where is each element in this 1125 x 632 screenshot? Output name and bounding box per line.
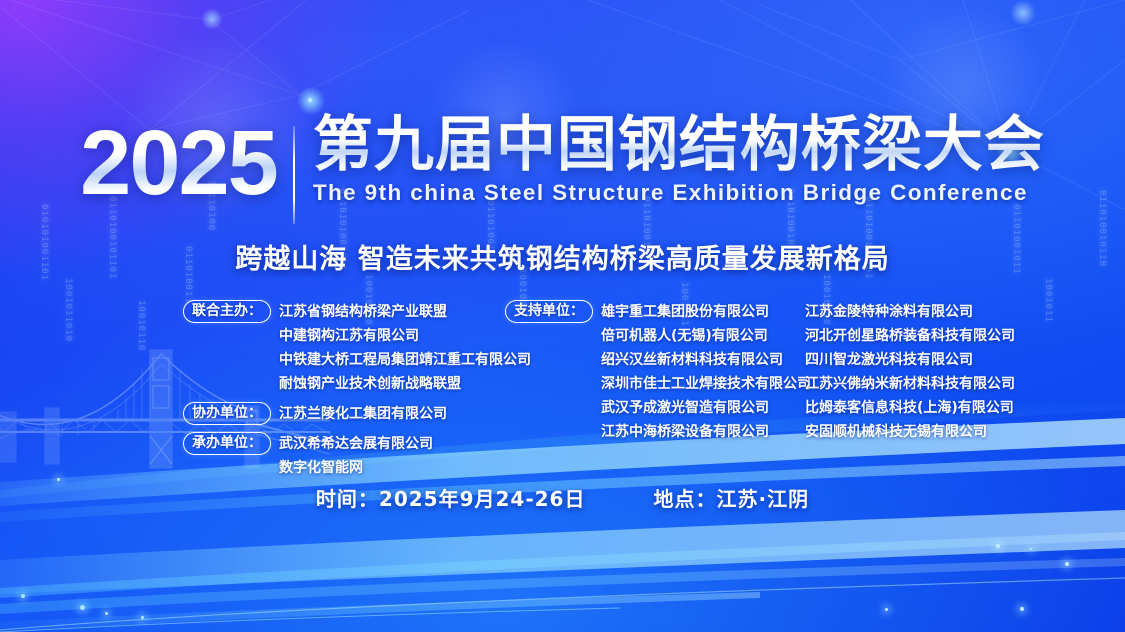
organizer-column-middle: 支持单位： 雄宇重工集团股份有限公司 倍可机器人(无锡)有限公司 绍兴汉丝新材料… — [505, 300, 805, 447]
banner-content: 2025 第九届中国钢结构桥梁大会 The 9th china Steel St… — [0, 0, 1125, 632]
list-item: 江苏省钢结构桥梁产业联盟 — [279, 300, 531, 324]
list-item: 武汉希希达会展有限公司 — [279, 432, 433, 456]
list-item: 中建钢构江苏有限公司 — [279, 324, 531, 348]
conference-slogan: 跨越山海 智造未来共筑钢结构桥梁高质量发展新格局 — [0, 237, 1125, 276]
list-item: 深圳市佳士工业焊接技术有限公司 — [601, 372, 811, 396]
list-item: 耐蚀钢产业技术创新战略联盟 — [279, 372, 531, 396]
list-item: 江苏金陵特种涂料有限公司 — [805, 300, 1085, 324]
co-organizer-label: 协办单位： — [183, 402, 271, 425]
year-2025: 2025 — [80, 120, 293, 206]
list-item: 绍兴汉丝新材料科技有限公司 — [601, 348, 811, 372]
co-organizer-names: 江苏兰陵化工集团有限公司 — [279, 402, 447, 426]
supporters-label: 支持单位： — [505, 300, 593, 323]
list-item: 四川智龙激光科技有限公司 — [805, 348, 1085, 372]
conference-title-en: The 9th china Steel Structure Exhibition… — [313, 180, 1045, 206]
joint-host-names: 江苏省钢结构桥梁产业联盟 中建钢构江苏有限公司 中铁建大桥工程局集团靖江重工有限… — [279, 300, 531, 396]
list-item: 数字化智能网 — [279, 456, 433, 480]
joint-host-row: 联合主办： 江苏省钢结构桥梁产业联盟 中建钢构江苏有限公司 中铁建大桥工程局集团… — [183, 300, 503, 396]
list-item: 倍可机器人(无锡)有限公司 — [601, 324, 811, 348]
list-item: 河北开创星路桥装备科技有限公司 — [805, 324, 1085, 348]
list-item: 比姆泰客信息科技(上海)有限公司 — [805, 396, 1085, 420]
event-date: 时间：2025年9月24-26日 — [316, 483, 586, 512]
list-item: 江苏中海桥梁设备有限公司 — [601, 420, 811, 444]
list-item: 武汉予成激光智造有限公司 — [601, 396, 811, 420]
event-location: 地点：江苏·江阴 — [653, 483, 809, 512]
supporters-row: 支持单位： 雄宇重工集团股份有限公司 倍可机器人(无锡)有限公司 绍兴汉丝新材料… — [505, 300, 805, 444]
conference-banner: 010101001101 1001011010 0110100101101 10… — [0, 0, 1125, 632]
list-item: 江苏兴佛纳米新材料科技有限公司 — [805, 372, 1085, 396]
undertaker-label: 承办单位： — [183, 432, 271, 455]
title-column: 第九届中国钢结构桥梁大会 The 9th china Steel Structu… — [295, 112, 1045, 206]
supporters-names-col2: 江苏金陵特种涂料有限公司 河北开创星路桥装备科技有限公司 四川智龙激光科技有限公… — [805, 300, 1085, 444]
organizer-column-right: 江苏金陵特种涂料有限公司 河北开创星路桥装备科技有限公司 四川智龙激光科技有限公… — [805, 300, 1085, 444]
joint-host-label: 联合主办： — [183, 300, 271, 323]
list-item: 雄宇重工集团股份有限公司 — [601, 300, 811, 324]
title-row: 2025 第九届中国钢结构桥梁大会 The 9th china Steel St… — [0, 112, 1125, 224]
undertaker-row: 承办单位： 武汉希希达会展有限公司 数字化智能网 — [183, 432, 503, 480]
conference-title-cn: 第九届中国钢结构桥梁大会 — [313, 112, 1045, 178]
list-item: 江苏兰陵化工集团有限公司 — [279, 402, 447, 426]
organizer-column-left: 联合主办： 江苏省钢结构桥梁产业联盟 中建钢构江苏有限公司 中铁建大桥工程局集团… — [183, 300, 503, 483]
list-item: 中铁建大桥工程局集团靖江重工有限公司 — [279, 348, 531, 372]
supporters-names-col1: 雄宇重工集团股份有限公司 倍可机器人(无锡)有限公司 绍兴汉丝新材料科技有限公司… — [601, 300, 811, 444]
co-organizer-row: 协办单位： 江苏兰陵化工集团有限公司 — [183, 402, 503, 426]
undertaker-names: 武汉希希达会展有限公司 数字化智能网 — [279, 432, 433, 480]
footer-info: 时间：2025年9月24-26日 地点：江苏·江阴 — [0, 483, 1125, 512]
list-item: 安固顺机械科技无锡有限公司 — [805, 420, 1085, 444]
